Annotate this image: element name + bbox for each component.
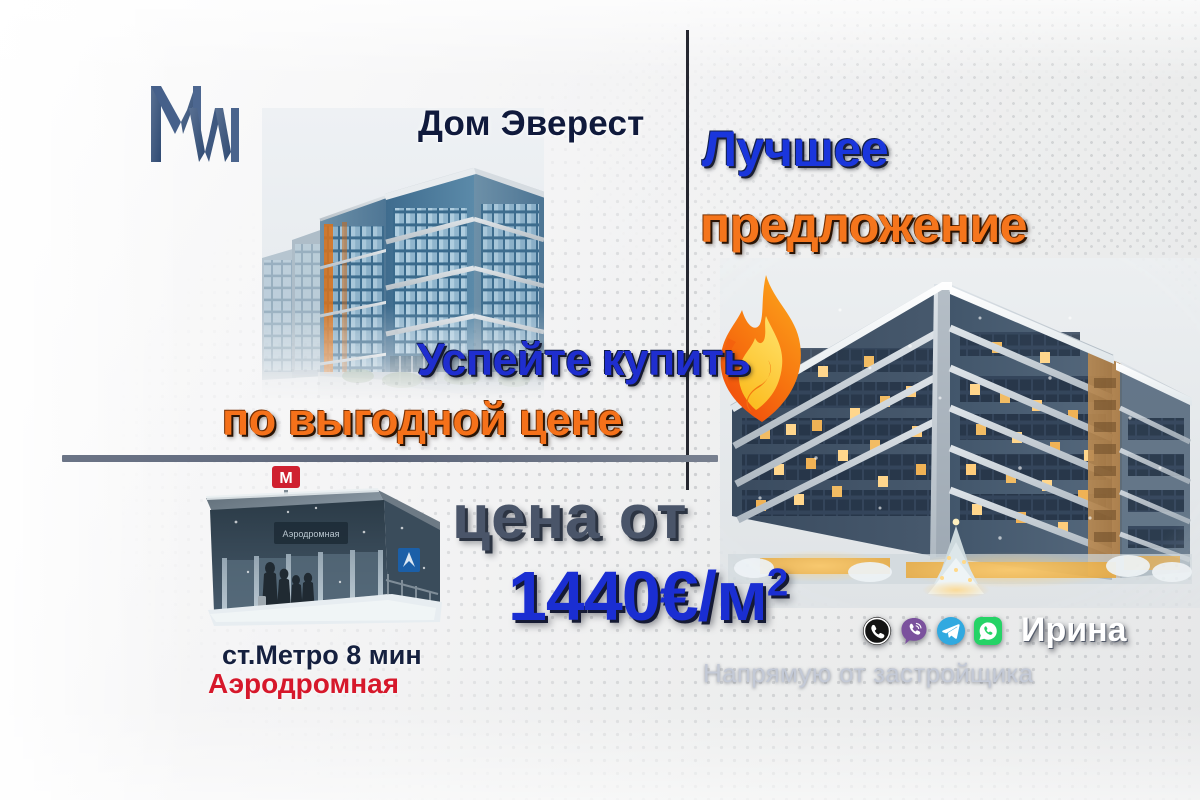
headline-line2: предложение [700, 196, 1027, 254]
price-unit-exponent: 2 [767, 562, 787, 605]
subheadline-line1: Успейте купить [417, 334, 750, 386]
metro-entrance-image: М Аэродромная [188, 462, 478, 634]
project-title: Дом Эверест [418, 104, 645, 144]
price-label: цена от [452, 482, 687, 553]
subheadline-line2: по выгодной цене [222, 394, 622, 446]
metro-station-name: Аэродромная [208, 668, 399, 700]
price-amount: 1440€/м [508, 557, 767, 635]
vertical-divider [686, 30, 689, 490]
mw-monogram-logo [143, 78, 247, 170]
horizontal-divider [62, 455, 718, 462]
advertisement-banner: М Аэродромная [0, 0, 1200, 800]
headline-line1: Лучшее [702, 120, 888, 178]
telegram-icon[interactable] [936, 616, 966, 646]
contact-channels: Ирина [862, 611, 1127, 650]
pavilion-board-text: Аэродромная [283, 529, 340, 539]
viber-icon[interactable] [899, 616, 929, 646]
price-value: 1440€/м2 [508, 556, 787, 636]
svg-text:М: М [279, 470, 292, 487]
metro-walk-time: ст.Метро 8 мин [222, 640, 422, 671]
agent-name: Ирина [1021, 611, 1127, 650]
developer-tagline: Напрямую от застройщика [703, 658, 1033, 689]
phone-icon[interactable] [862, 616, 892, 646]
whatsapp-icon[interactable] [973, 616, 1003, 646]
